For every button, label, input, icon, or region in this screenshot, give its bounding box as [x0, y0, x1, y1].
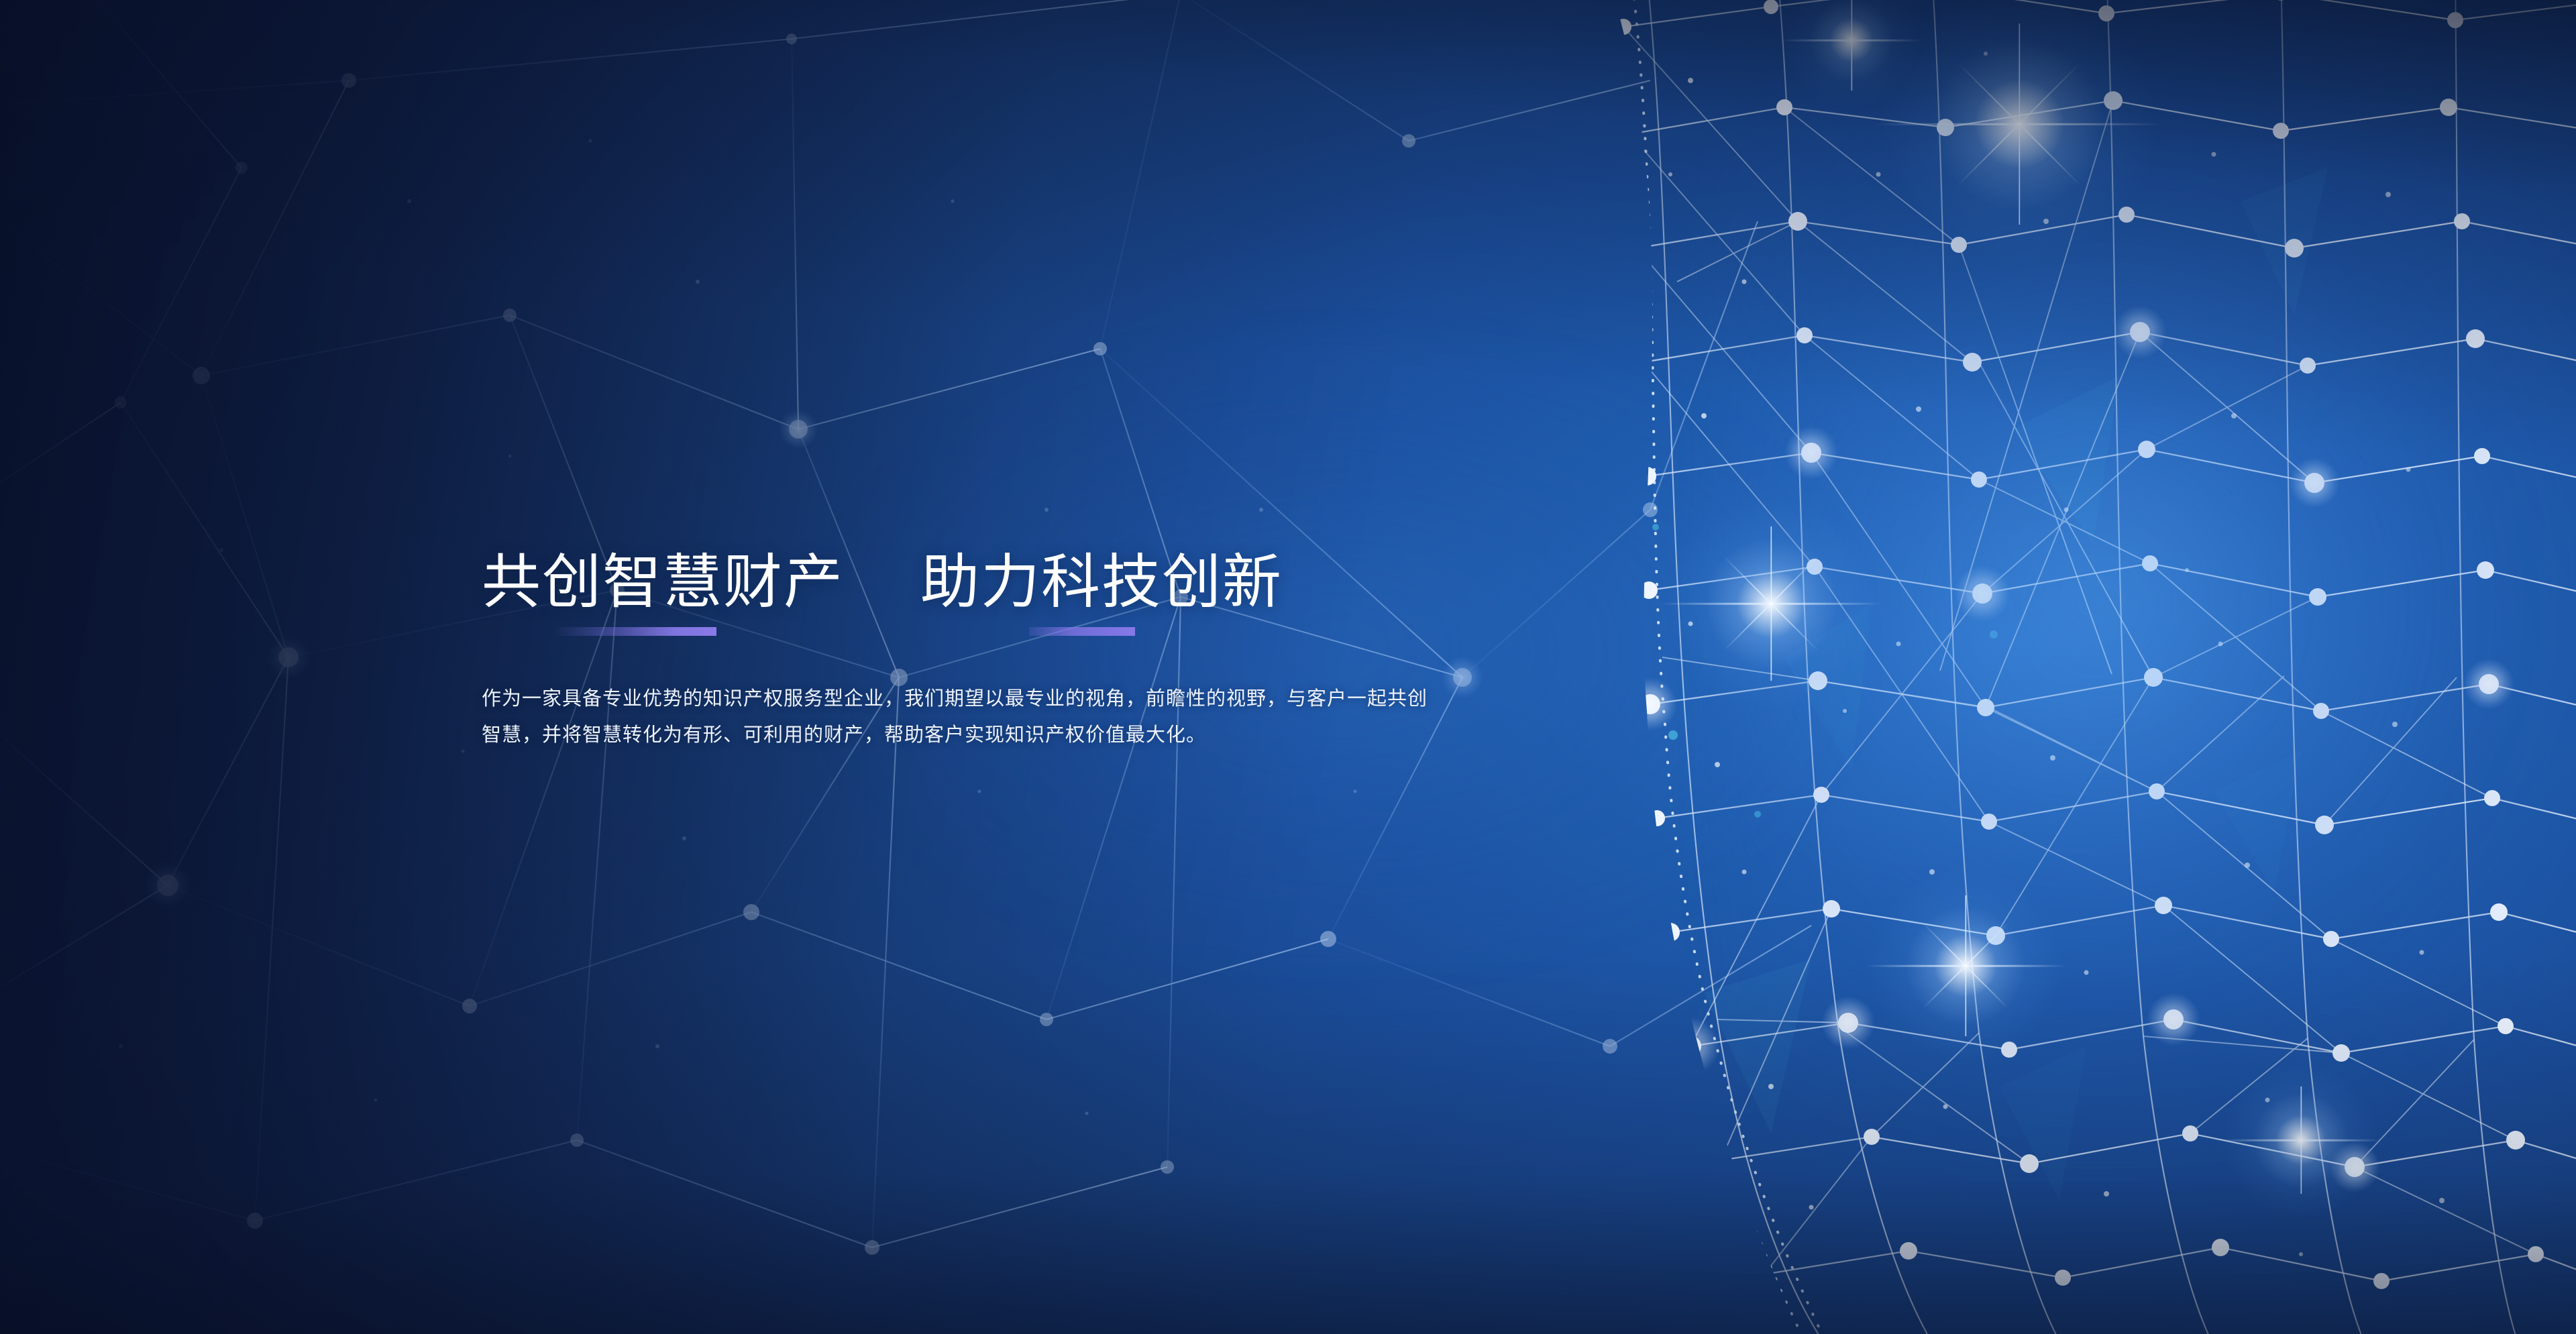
headline-text-secondary: 助力科技创新 — [920, 550, 1283, 614]
hero-headline: 共创智慧财产 助力科技创新 — [482, 550, 1434, 614]
headline-segment-2: 助力科技创新 — [920, 550, 1283, 614]
headline-text-primary: 共创智慧财产 — [482, 550, 844, 614]
headline-underline-2 — [1029, 627, 1135, 636]
hero-description: 作为一家具备专业优势的知识产权服务型企业，我们期望以最专业的视角，前瞻性的视野，… — [482, 681, 1433, 753]
hero-banner: 共创智慧财产 助力科技创新 作为一家具备专业优势的知识产权服务型企业，我们期望以… — [0, 0, 2576, 1334]
headline-underline-1 — [554, 627, 716, 636]
hero-content: 共创智慧财产 助力科技创新 作为一家具备专业优势的知识产权服务型企业，我们期望以… — [482, 550, 1434, 773]
headline-segment-1: 共创智慧财产 — [482, 550, 844, 614]
